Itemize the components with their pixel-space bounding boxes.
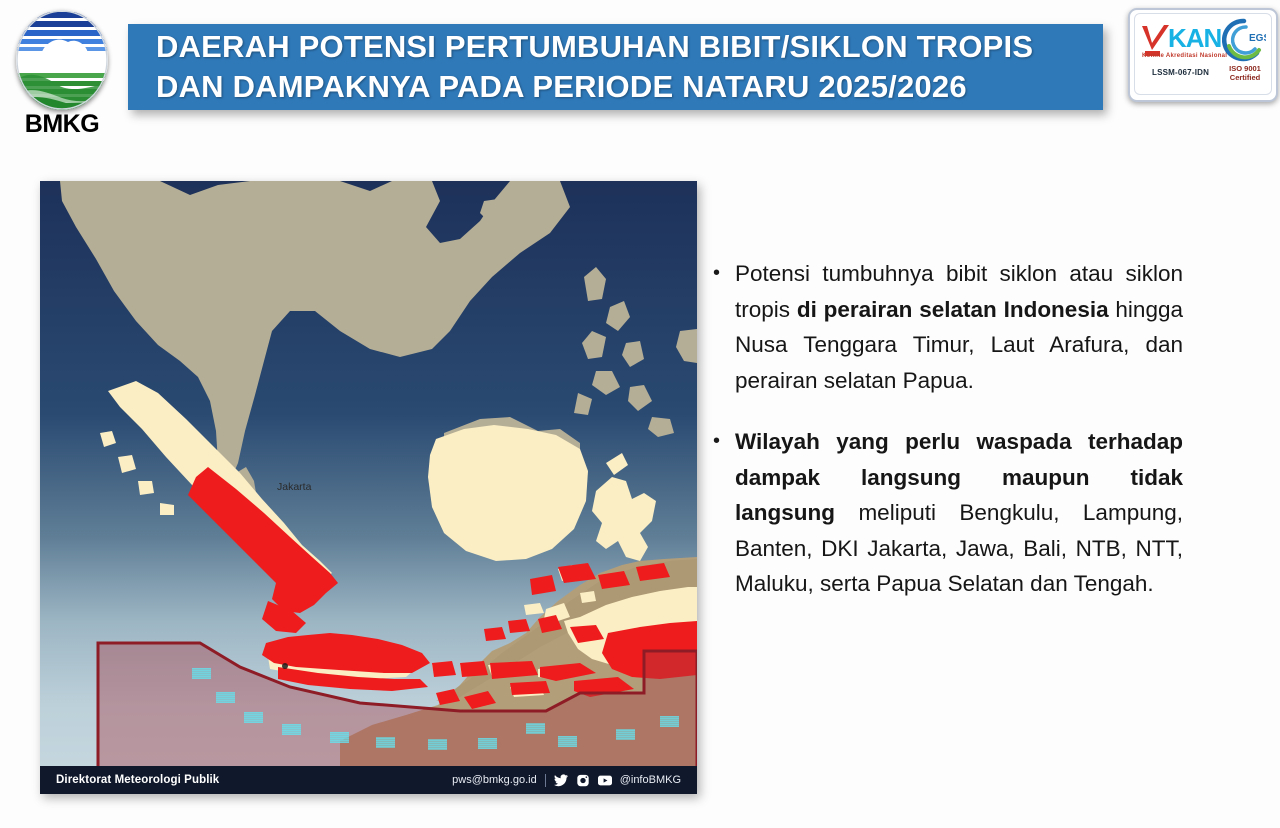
- footer-email-label: pws@bmkg.go.id: [452, 774, 537, 786]
- page-header: BMKG DAERAH POTENSI PERTUMBUHAN BIBIT/SI…: [0, 0, 1280, 150]
- list-item: • Potensi tumbuhnya bibit siklon atau si…: [713, 256, 1183, 398]
- cyclone-marker: [330, 732, 349, 743]
- footer-divider: [545, 774, 546, 787]
- svg-text:EGS: EGS: [1249, 33, 1266, 44]
- page-title-line-2: DAN DAMPAKNYA PADA PERIODE NATARU 2025/2…: [156, 67, 1103, 107]
- cyclone-marker: [526, 723, 545, 734]
- youtube-icon[interactable]: [598, 774, 612, 787]
- bullet-marker: •: [713, 256, 735, 398]
- instagram-icon[interactable]: [576, 774, 590, 787]
- cyclone-marker: [244, 712, 263, 723]
- page-title-line-1: DAERAH POTENSI PERTUMBUHAN BIBIT/SIKLON …: [156, 27, 1103, 67]
- cyclone-marker: [558, 736, 577, 747]
- iso-standard-label: ISO 9001: [1222, 64, 1268, 73]
- twitter-icon[interactable]: [554, 774, 568, 787]
- kan-certification-logo: KAN Komite Akreditasi Nasional LSSM-067-…: [1128, 8, 1278, 102]
- bullet-text-1: Potensi tumbuhnya bibit siklon atau sikl…: [735, 256, 1183, 398]
- egs-logo-icon: EGS: [1222, 18, 1266, 62]
- footer-contact-group: pws@bmkg.go.id @infoBMKG: [452, 774, 681, 787]
- bmkg-emblem-icon: [16, 10, 108, 110]
- title-banner: DAERAH POTENSI PERTUMBUHAN BIBIT/SIKLON …: [128, 24, 1103, 110]
- cyclone-marker: [376, 737, 395, 748]
- map-footer-bar: Direktorat Meteorologi Publik pws@bmkg.g…: [40, 766, 697, 794]
- cyclone-marker: [428, 739, 447, 750]
- kan-brand-text: KAN: [1168, 23, 1221, 54]
- cyclone-marker: [616, 729, 635, 740]
- footer-social-handle: @infoBMKG: [620, 774, 681, 786]
- kan-subtitle: Komite Akreditasi Nasional: [1142, 53, 1227, 59]
- cyclone-marker: [478, 738, 497, 749]
- cyclone-marker: [660, 716, 679, 727]
- kan-accreditation-code: LSSM-067-IDN: [1152, 68, 1209, 77]
- cyclone-potential-map[interactable]: Jakarta Direktorat Meteorologi Publik pw…: [40, 181, 697, 794]
- cyclone-marker: [282, 724, 301, 735]
- cyclone-marker: [192, 668, 211, 679]
- jakarta-city-label: Jakarta: [277, 481, 311, 493]
- list-item: • Wilayah yang perlu waspada terhadap da…: [713, 424, 1183, 602]
- map-graphic: [40, 181, 697, 794]
- bmkg-wordmark: BMKG: [8, 110, 116, 139]
- cyclone-marker: [216, 692, 235, 703]
- jakarta-city-marker: [282, 663, 288, 669]
- iso-certified-label: Certified: [1222, 73, 1268, 82]
- footer-department-label: Direktorat Meteorologi Publik: [56, 774, 219, 786]
- bmkg-logo: BMKG: [8, 8, 116, 138]
- summary-bullet-list: • Potensi tumbuhnya bibit siklon atau si…: [713, 256, 1183, 628]
- bullet-1-seg-1: di perairan selatan Indonesia: [797, 297, 1109, 322]
- bullet-marker: •: [713, 424, 735, 602]
- bullet-text-2: Wilayah yang perlu waspada terhadap damp…: [735, 424, 1183, 602]
